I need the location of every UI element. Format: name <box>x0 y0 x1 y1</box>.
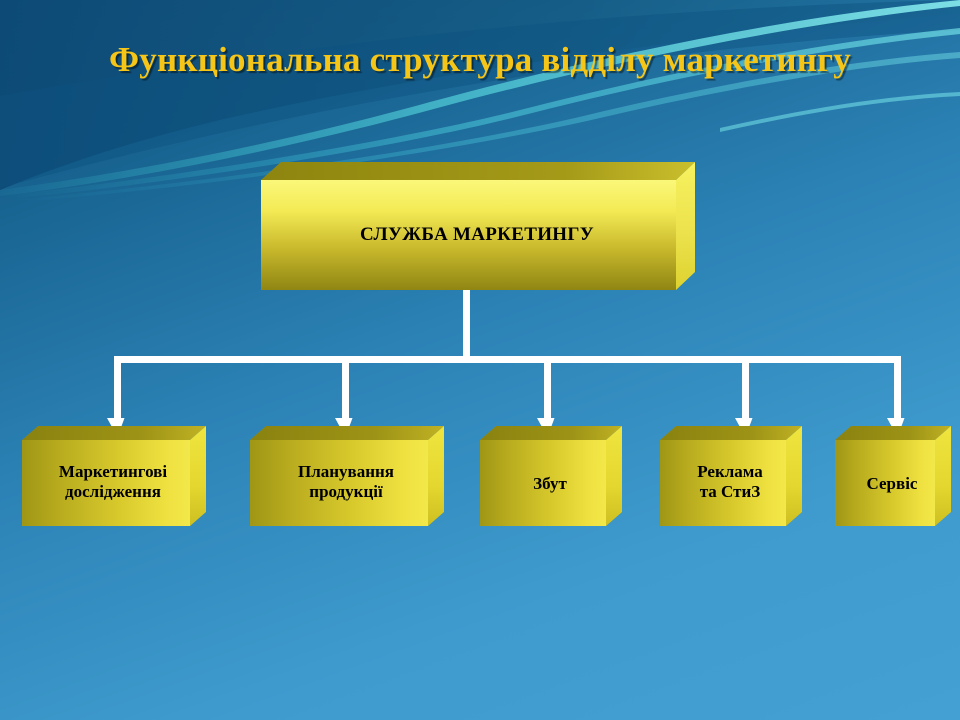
node-child-3-label: Збут <box>478 474 638 494</box>
node-child-5[interactable]: Сервіс <box>833 424 951 528</box>
node-child-2-label: Планування продукції <box>248 462 460 502</box>
connector-bus <box>114 356 901 363</box>
node-child-5-top-face <box>835 426 951 440</box>
node-child-2[interactable]: Планування продукції <box>248 424 444 528</box>
connector-trunk <box>463 288 470 360</box>
connector-drop-5 <box>894 356 901 422</box>
node-child-4[interactable]: Реклама та СтиЗ <box>658 424 802 528</box>
node-root-label: СЛУЖБА МАРКЕТИНГУ <box>259 224 695 246</box>
node-child-3[interactable]: Збут <box>478 424 622 528</box>
node-child-3-top-face <box>480 426 622 440</box>
connector-drop-4 <box>742 356 749 422</box>
node-child-2-top-face <box>250 426 444 440</box>
node-child-4-label: Реклама та СтиЗ <box>658 462 818 502</box>
connector-drop-1 <box>114 356 121 422</box>
slide-canvas: Функціональна структура відділу маркетин… <box>0 0 960 720</box>
node-child-5-label: Сервіс <box>833 474 960 494</box>
node-child-1-label: Маркетингові дослідження <box>20 462 222 502</box>
node-root-top-face <box>261 162 695 180</box>
node-child-1[interactable]: Маркетингові дослідження <box>20 424 206 528</box>
connector-group <box>0 0 960 720</box>
node-root[interactable]: СЛУЖБА МАРКЕТИНГУ <box>259 160 695 292</box>
node-child-4-top-face <box>660 426 802 440</box>
node-child-1-top-face <box>22 426 206 440</box>
connector-drop-3 <box>544 356 551 422</box>
connector-drop-2 <box>342 356 349 422</box>
